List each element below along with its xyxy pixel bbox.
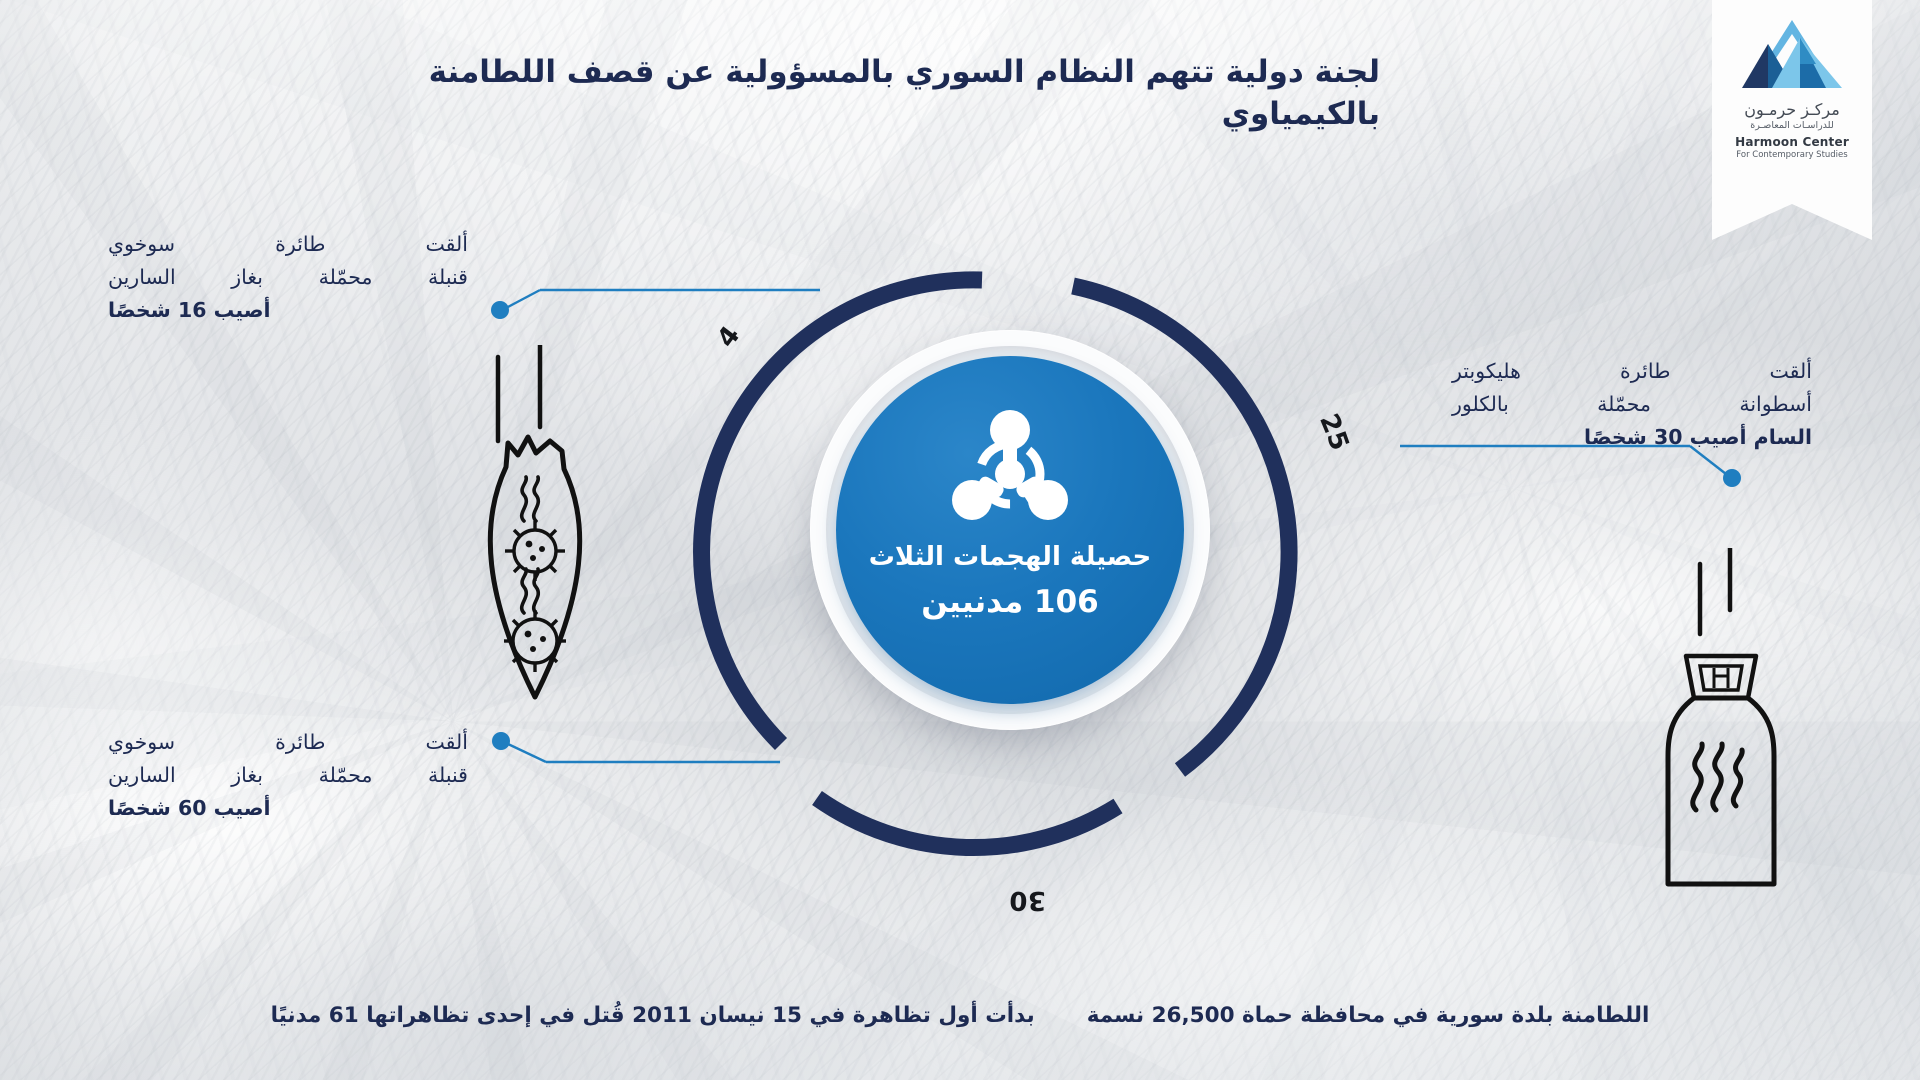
chemical-bomb-icon bbox=[440, 345, 630, 715]
summary-total: 106 مدنيين bbox=[921, 584, 1098, 620]
logo-arabic-subtitle: للدراسـات المعاصـرة bbox=[1750, 120, 1833, 131]
logo-english-subtitle: For Contemporary Studies bbox=[1736, 150, 1847, 160]
summary-heading: حصيلة الهجمات الثلاث bbox=[869, 542, 1152, 572]
callout-attack-3: ألقت طائرة سوخوي قنبلة محمّلة بغاز السار… bbox=[108, 726, 468, 826]
date-label-attack-1: 24 آذار/ مارس 2017 bbox=[592, 125, 746, 353]
callout-1-line-2: قنبلة محمّلة بغاز السارين bbox=[108, 261, 468, 294]
callout-3-line-2: قنبلة محمّلة بغاز السارين bbox=[108, 759, 468, 792]
callout-2-line-1: ألقت طائرة هليكوبتر bbox=[1452, 355, 1812, 388]
callout-1-casualties: أصيب 16 شخصًا bbox=[108, 294, 468, 327]
callout-attack-1: ألقت طائرة سوخوي قنبلة محمّلة بغاز السار… bbox=[108, 228, 468, 328]
harmoon-logo: مركـز حرمـون للدراسـات المعاصـرة Harmoon… bbox=[1712, 0, 1872, 240]
footer-fact-1: اللطامنة بلدة سورية في محافظة حماة 26,50… bbox=[1087, 1003, 1650, 1028]
callout-2-line-2: أسطوانة محمّلة بالكلور bbox=[1452, 388, 1812, 421]
leader-line-attack-1 bbox=[490, 258, 830, 318]
center-summary-wheel: حصيلة الهجمات الثلاث 106 مدنيين bbox=[810, 330, 1210, 730]
footer-facts: اللطامنة بلدة سورية في محافظة حماة 26,50… bbox=[0, 1003, 1920, 1028]
arc-attack-3 bbox=[817, 798, 1118, 848]
mountain-logo-icon bbox=[1738, 18, 1846, 94]
footer-fact-2: بدأت أول تظاهرة في 15 نيسان 2011 قُتل في… bbox=[271, 1003, 1035, 1028]
logo-arabic-name: مركـز حرمـون bbox=[1744, 100, 1840, 119]
callout-3-casualties: أصيب 60 شخصًا bbox=[108, 792, 468, 825]
chlorine-cylinder-icon bbox=[1660, 548, 1840, 888]
leader-line-attack-2 bbox=[1390, 430, 1750, 540]
logo-english-name: Harmoon Center bbox=[1735, 135, 1849, 149]
page-title: لجنة دولية تتهم النظام السوري بالمسؤولية… bbox=[260, 52, 1380, 136]
chemical-weapon-icon bbox=[944, 408, 1076, 526]
callout-3-line-1: ألقت طائرة سوخوي bbox=[108, 726, 468, 759]
callout-1-line-1: ألقت طائرة سوخوي bbox=[108, 228, 468, 261]
